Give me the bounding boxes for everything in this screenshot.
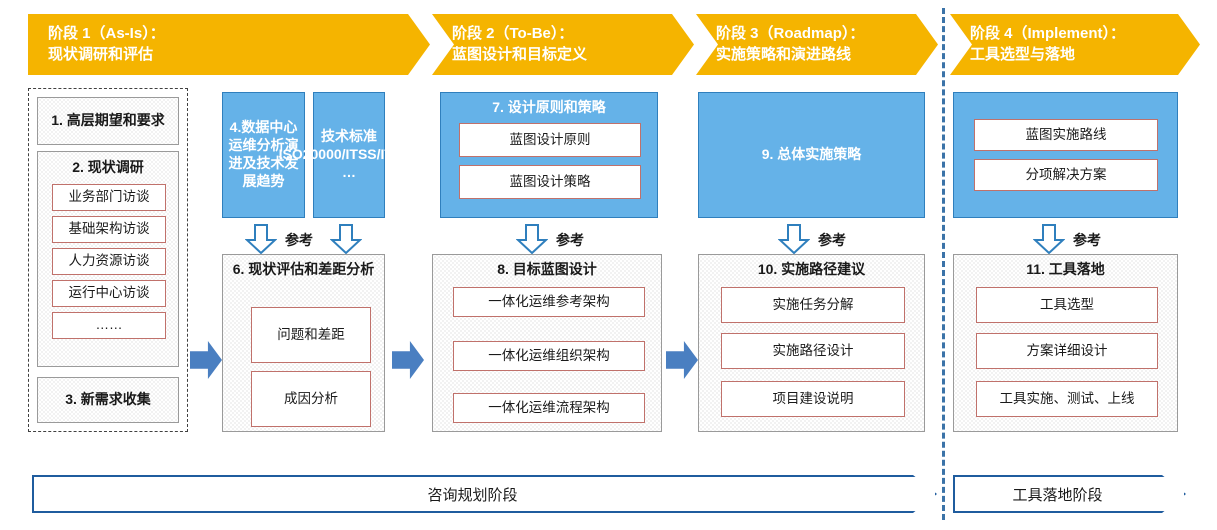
phase-header-3[interactable]: 阶段 3（Roadmap）： 实施策略和演进路线: [696, 14, 938, 75]
phase-header-4[interactable]: 阶段 4（Implement）： 工具选型与落地: [950, 14, 1200, 75]
reference-label: 参考: [1073, 230, 1101, 250]
phase-4-line2: 工具选型与落地: [970, 45, 1200, 65]
list-item[interactable]: 一体化运维组织架构: [453, 341, 645, 371]
reference-label: 参考: [818, 230, 846, 250]
list-item[interactable]: 蓝图实施路线: [974, 119, 1158, 151]
right-arrow-icon: [190, 341, 222, 379]
list-item[interactable]: 工具实施、测试、上线: [976, 381, 1158, 417]
box-2-title: 2. 现状调研: [38, 159, 178, 177]
list-item[interactable]: 方案详细设计: [976, 333, 1158, 369]
box-10-implementation-path[interactable]: 10. 实施路径建议 实施任务分解 实施路径设计 项目建设说明: [698, 254, 925, 432]
standards-label: 技术标准ISO20000/ITSS/ITIL… …: [279, 128, 420, 182]
phase-3-line1: 阶段 3（Roadmap）：: [716, 24, 938, 44]
list-item[interactable]: 实施任务分解: [721, 287, 905, 323]
phase-header-1[interactable]: 阶段 1（As-Is）： 现状调研和评估: [28, 14, 430, 75]
banner-left-label: 咨询规划阶段: [427, 484, 517, 505]
box-9-overall-strategy[interactable]: 9. 总体实施策略: [698, 92, 925, 218]
down-arrow-icon: [330, 224, 362, 254]
list-item[interactable]: 蓝图设计原则: [459, 123, 641, 157]
down-arrow-icon: [1033, 224, 1065, 254]
box-technical-standards[interactable]: 技术标准ISO20000/ITSS/ITIL… …: [313, 92, 385, 218]
list-item[interactable]: 人力资源访谈: [52, 248, 166, 275]
box-6-title: 6. 现状评估和差距分析: [223, 261, 384, 279]
phase-2-line2: 蓝图设计和目标定义: [452, 45, 694, 65]
list-item[interactable]: 蓝图设计策略: [459, 165, 641, 199]
list-item[interactable]: 分项解决方案: [974, 159, 1158, 191]
list-item[interactable]: 项目建设说明: [721, 381, 905, 417]
down-arrow-icon: [516, 224, 548, 254]
column-1-group: 1. 高层期望和要求 2. 现状调研 业务部门访谈 基础架构访谈 人力资源访谈 …: [28, 88, 188, 432]
reference-label: 参考: [285, 230, 313, 250]
box-7-design-principles[interactable]: 7. 设计原则和策略 蓝图设计原则 蓝图设计策略: [440, 92, 658, 218]
phase-header-2[interactable]: 阶段 2（To-Be）： 蓝图设计和目标定义: [432, 14, 694, 75]
phase-2-line1: 阶段 2（To-Be）：: [452, 24, 694, 44]
list-item[interactable]: 实施路径设计: [721, 333, 905, 369]
list-item[interactable]: 运行中心访谈: [52, 280, 166, 307]
phase-4-line1: 阶段 4（Implement）：: [970, 24, 1200, 44]
list-item[interactable]: 业务部门访谈: [52, 184, 166, 211]
box-1-title: 1. 高层期望和要求: [51, 112, 165, 130]
down-arrow-icon: [245, 224, 277, 254]
blueprint-implementation-group[interactable]: 蓝图实施路线 分项解决方案: [953, 92, 1178, 218]
banner-tool-landing-phase[interactable]: 工具落地阶段: [953, 475, 1186, 513]
box-11-tool-landing[interactable]: 11. 工具落地 工具选型 方案详细设计 工具实施、测试、上线: [953, 254, 1178, 432]
box-7-title: 7. 设计原则和策略: [441, 99, 657, 117]
list-item[interactable]: 成因分析: [251, 371, 371, 427]
box-6-gap-analysis[interactable]: 6. 现状评估和差距分析 问题和差距 成因分析: [222, 254, 385, 432]
reference-label: 参考: [556, 230, 584, 250]
banner-consulting-phase[interactable]: 咨询规划阶段: [32, 475, 937, 513]
list-item[interactable]: 基础架构访谈: [52, 216, 166, 243]
list-item[interactable]: ……: [52, 312, 166, 339]
box-8-title: 8. 目标蓝图设计: [433, 261, 661, 279]
box-3-title: 3. 新需求收集: [65, 391, 151, 409]
box-11-title: 11. 工具落地: [954, 261, 1177, 279]
right-arrow-icon: [392, 341, 424, 379]
box-8-target-blueprint[interactable]: 8. 目标蓝图设计 一体化运维参考架构 一体化运维组织架构 一体化运维流程架构: [432, 254, 662, 432]
list-item[interactable]: 问题和差距: [251, 307, 371, 363]
box-2-current-state-survey[interactable]: 2. 现状调研 业务部门访谈 基础架构访谈 人力资源访谈 运行中心访谈 ……: [37, 151, 179, 367]
box-3-new-requirements[interactable]: 3. 新需求收集: [37, 377, 179, 423]
box-9-title: 9. 总体实施策略: [762, 146, 862, 164]
down-arrow-icon: [778, 224, 810, 254]
box-10-title: 10. 实施路径建议: [699, 261, 924, 279]
banner-right-label: 工具落地阶段: [1012, 484, 1102, 505]
list-item[interactable]: 一体化运维流程架构: [453, 393, 645, 423]
phase-1-line1: 阶段 1（As-Is）：: [48, 24, 430, 44]
right-arrow-icon: [666, 341, 698, 379]
phase-divider: [942, 8, 945, 520]
list-item[interactable]: 一体化运维参考架构: [453, 287, 645, 317]
phase-1-line2: 现状调研和评估: [48, 45, 430, 65]
phase-3-line2: 实施策略和演进路线: [716, 45, 938, 65]
list-item[interactable]: 工具选型: [976, 287, 1158, 323]
box-1-high-level-expectations[interactable]: 1. 高层期望和要求: [37, 97, 179, 145]
